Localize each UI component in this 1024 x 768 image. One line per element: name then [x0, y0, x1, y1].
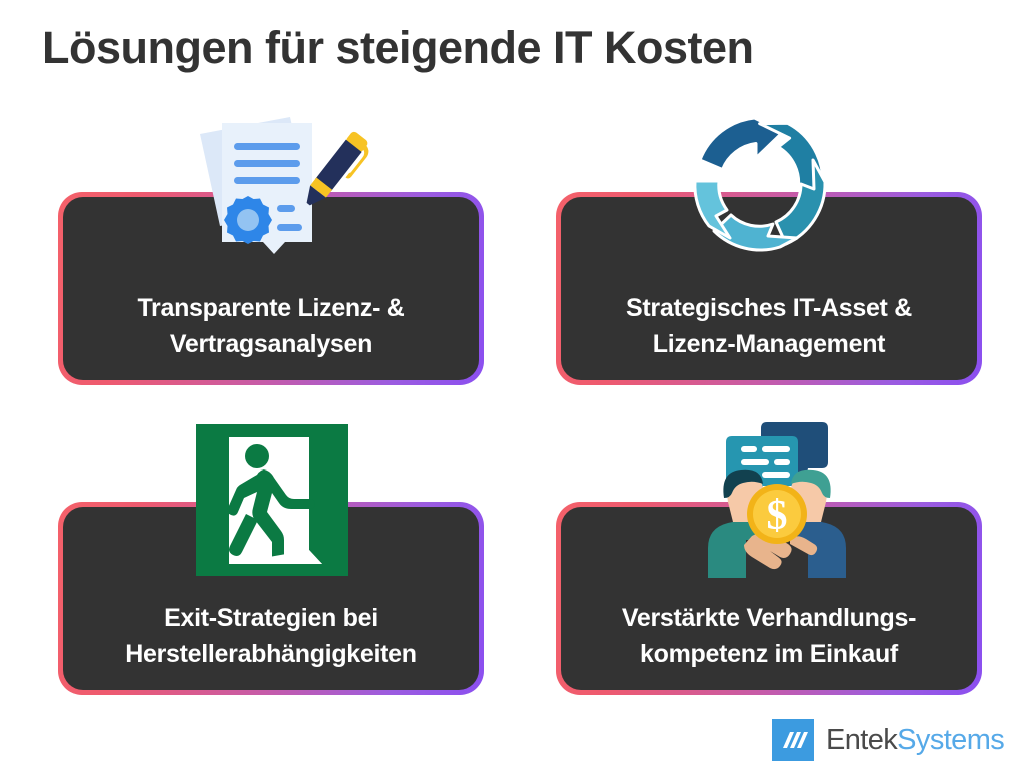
brand-logo-text: EntekSystems [826, 726, 1004, 755]
card-body: Verstärkte Verhandlungs- kompetenz im Ei… [561, 507, 977, 690]
card-label-line-1: Strategisches IT-Asset & [626, 294, 912, 322]
brand-name-secondary: Systems [897, 724, 1004, 756]
card-label-line-2: Vertragsanalysen [170, 330, 372, 358]
solution-card-exit-strategien-herstellerabhaengigkeiten[interactable]: Exit-Strategien bei Herstellerabhängigke… [58, 502, 484, 695]
card-body: Transparente Lizenz- & Vertragsanalysen [63, 197, 479, 380]
three-slashes-mark-icon [772, 719, 814, 761]
solution-card-grid: Transparente Lizenz- & Vertragsanalysen … [0, 0, 1024, 768]
solution-card-strategisches-it-asset-lizenz-management[interactable]: Strategisches IT-Asset & Lizenz-Manageme… [556, 192, 982, 385]
card-label: Exit-Strategien bei Herstellerabhängigke… [125, 601, 417, 672]
card-label: Transparente Lizenz- & Vertragsanalysen [137, 291, 404, 362]
card-body: Exit-Strategien bei Herstellerabhängigke… [63, 507, 479, 690]
card-label-line-1: Verstärkte Verhandlungs- [622, 604, 916, 632]
card-label-line-2: Herstellerabhängigkeiten [125, 640, 417, 668]
card-label-line-2: kompetenz im Einkauf [640, 640, 898, 668]
solution-card-transparente-lizenz-vertragsanalysen[interactable]: Transparente Lizenz- & Vertragsanalysen [58, 192, 484, 385]
solution-card-verstaerkte-verhandlungskompetenz-einkauf[interactable]: Verstärkte Verhandlungs- kompetenz im Ei… [556, 502, 982, 695]
brand-logo[interactable]: EntekSystems [772, 719, 1004, 761]
card-label: Strategisches IT-Asset & Lizenz-Manageme… [626, 291, 912, 362]
card-label: Verstärkte Verhandlungs- kompetenz im Ei… [622, 601, 916, 672]
card-body: Strategisches IT-Asset & Lizenz-Manageme… [561, 197, 977, 380]
card-label-line-1: Exit-Strategien bei [164, 604, 378, 632]
card-label-line-1: Transparente Lizenz- & [137, 294, 404, 322]
card-label-line-2: Lizenz-Management [653, 330, 885, 358]
brand-name-primary: Entek [826, 724, 897, 756]
